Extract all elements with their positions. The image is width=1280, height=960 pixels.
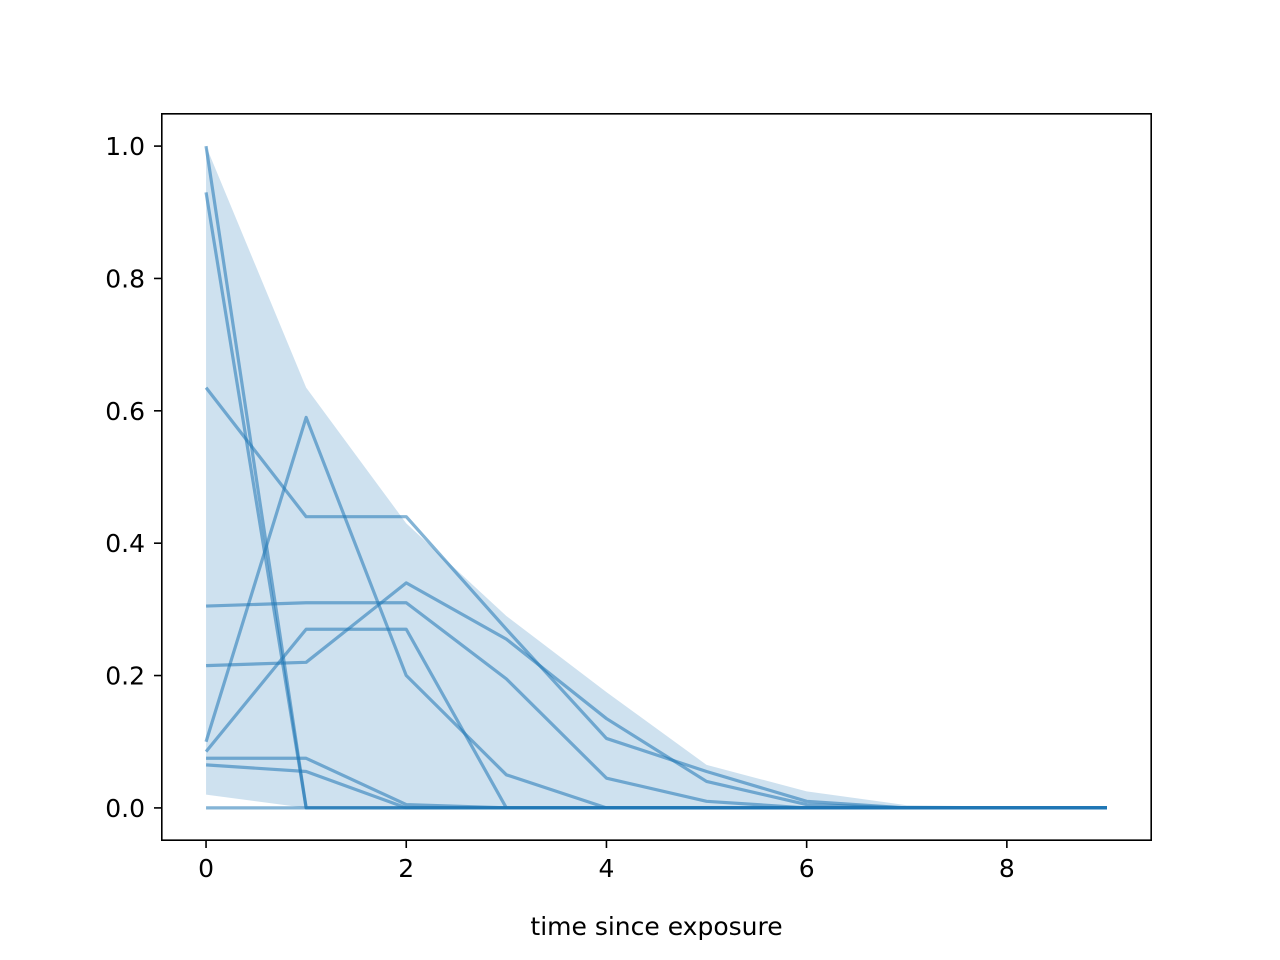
x-tick-label: 4 [598,854,614,883]
x-tick-label: 6 [799,854,815,883]
x-axis-title: time since exposure [530,912,782,941]
x-axis-ticks [206,841,1007,848]
y-tick-label: 0.0 [105,794,145,823]
y-tick-label: 1.0 [105,132,145,161]
x-tick-label: 0 [198,854,214,883]
x-axis-tick-labels: 02468 [198,854,1015,883]
figure-canvas: 02468 0.00.20.40.60.81.0 time since expo… [0,0,1280,960]
line-chart: 02468 0.00.20.40.60.81.0 time since expo… [0,0,1280,960]
y-tick-label: 0.2 [105,662,145,691]
x-tick-label: 8 [999,854,1015,883]
y-tick-label: 0.6 [105,397,145,426]
y-tick-label: 0.4 [105,529,145,558]
y-axis-tick-labels: 0.00.20.40.60.81.0 [105,132,145,823]
y-tick-label: 0.8 [105,264,145,293]
y-axis-ticks [154,146,161,808]
x-tick-label: 2 [398,854,414,883]
